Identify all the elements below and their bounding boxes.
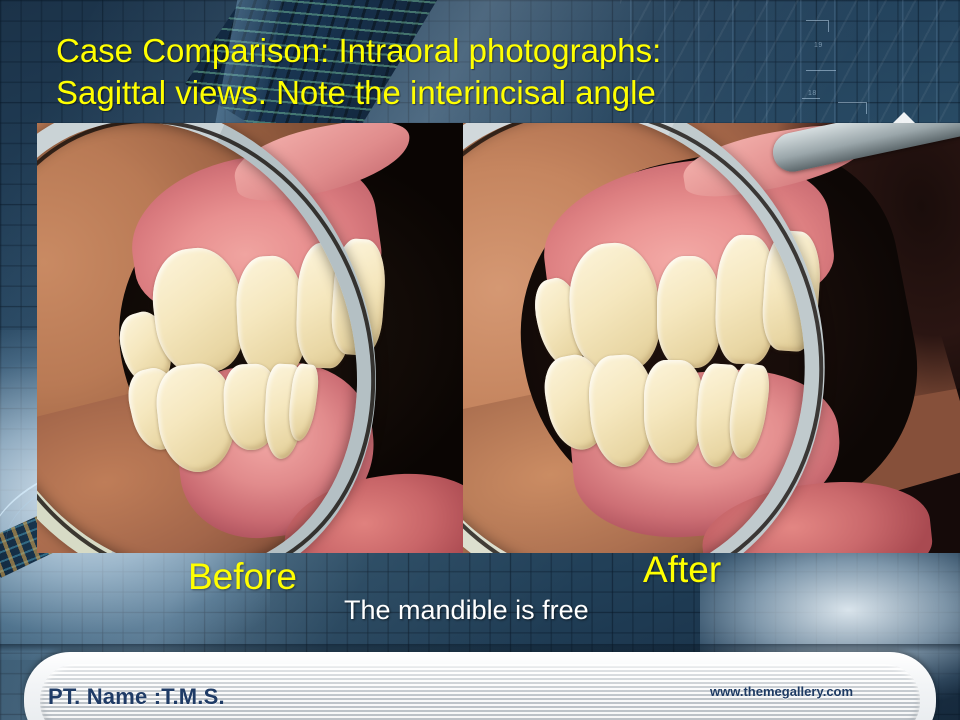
slide-caption: The mandible is free: [344, 595, 589, 626]
slide-title: Case Comparison: Intraoral photographs: …: [56, 30, 886, 114]
site-url-label[interactable]: www.themegallery.com: [710, 684, 853, 699]
footer-top-shadow: [0, 644, 960, 652]
photo-label-before: Before: [188, 556, 297, 598]
presentation-slide: 19 18 Case Comparison: Intraoral photogr…: [0, 0, 960, 720]
slide-footer: PT. Name :T.M.S. www.themegallery.com: [0, 644, 960, 720]
photo-label-after: After: [643, 549, 721, 591]
patient-name-label: PT. Name :T.M.S.: [48, 684, 225, 710]
intraoral-photo-after: [463, 123, 960, 553]
intraoral-photo-before: [37, 123, 463, 553]
arrow-up-marker-icon: [893, 112, 915, 123]
